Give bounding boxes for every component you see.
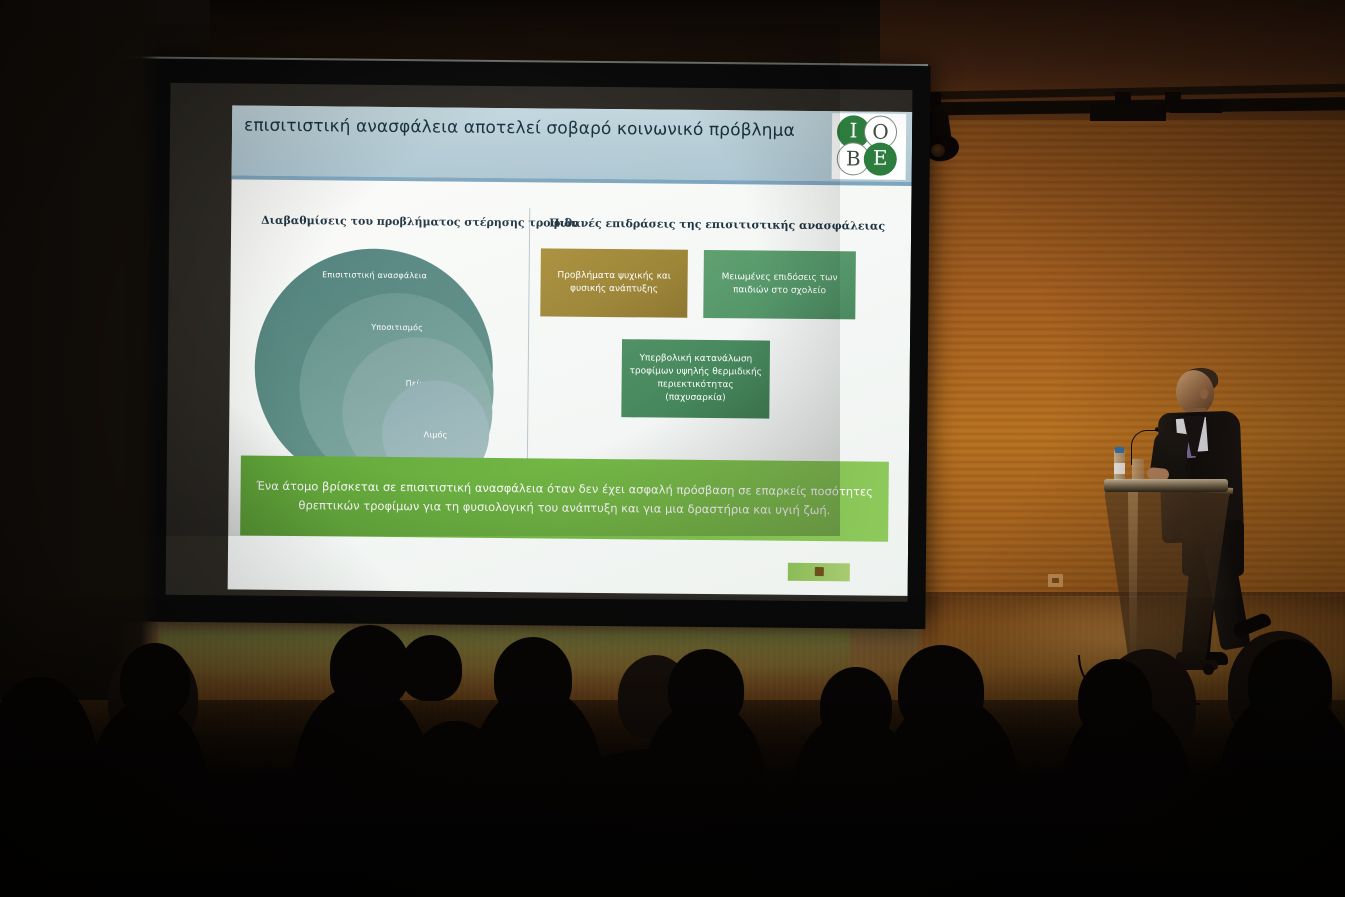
projection-screen-frame: επισιτιστική ανασφάλεια αποτελεί σοβαρό … [67, 58, 930, 629]
audience-head [120, 643, 190, 719]
lectern-top-surface [1104, 479, 1228, 492]
definition-banner: Ένα άτομο βρίσκεται σε επισιτιστική ανασ… [240, 456, 889, 542]
effect-box-development: Προβλήματα ψυχικής και φυσικής ανάπτυξης [540, 248, 688, 317]
iobe-logo: I O B E [832, 113, 907, 180]
audience-member-front [200, 769, 430, 897]
audience-head [1248, 639, 1332, 727]
audience-head [330, 625, 410, 709]
circle-label-1: Επισιτιστική ανασφάλεια [256, 270, 494, 283]
truss-fixture-box [1170, 100, 1222, 113]
drinking-glass [1132, 459, 1144, 480]
circle-label-4: Λιμός [382, 430, 489, 442]
right-column-header: Πιθανές επιδράσεις της επισιτιστικής ανα… [549, 216, 885, 232]
audience [0, 597, 1345, 897]
audience-head [494, 637, 572, 719]
left-column-header: Διαβαθμίσεις του προβλήματος στέρησης τρ… [261, 214, 579, 230]
audience-head [898, 645, 984, 735]
water-bottle-cap [1115, 447, 1124, 453]
slide-title: επισιτιστική ανασφάλεια αποτελεί σοβαρό … [244, 113, 804, 145]
audience-head [668, 649, 744, 729]
audience-member-front [0, 747, 210, 897]
wall-outlet-plate [1048, 574, 1063, 587]
slide-footer-mark [788, 563, 850, 582]
circle-label-2: Υποσιτισμός [300, 322, 494, 335]
speaker-ear [1200, 388, 1208, 399]
audience-member-front [548, 749, 768, 897]
audience-member-front [748, 763, 988, 897]
left-wall-occluder [0, 0, 160, 700]
water-bottle-label [1114, 463, 1125, 474]
audience-head [820, 667, 892, 745]
audience-head [400, 635, 462, 701]
spotlight-lens-icon [931, 144, 945, 157]
projection-screen-surface: επισιτιστική ανασφάλεια αποτελεί σοβαρό … [166, 83, 913, 602]
audience-head [1078, 659, 1152, 739]
presentation-slide: επισιτιστική ανασφάλεια αποτελεί σοβαρό … [228, 105, 913, 596]
concentric-circles-diagram: Επισιτιστική ανασφάλεια Υποσιτισμός Πείν… [247, 246, 519, 489]
effect-box-obesity: Υπερβολική κατανάλωση τροφίμων υψηλής θε… [621, 339, 770, 418]
presentation-photograph: επισιτιστική ανασφάλεια αποτελεί σοβαρό … [0, 0, 1345, 897]
audience-member-front [1180, 747, 1345, 897]
logo-letter-e: E [864, 142, 897, 175]
truss-fixture-box [1090, 104, 1166, 121]
effect-box-school-performance: Μειωμένες επιδόσεις των παιδιών στο σχολ… [703, 250, 856, 319]
